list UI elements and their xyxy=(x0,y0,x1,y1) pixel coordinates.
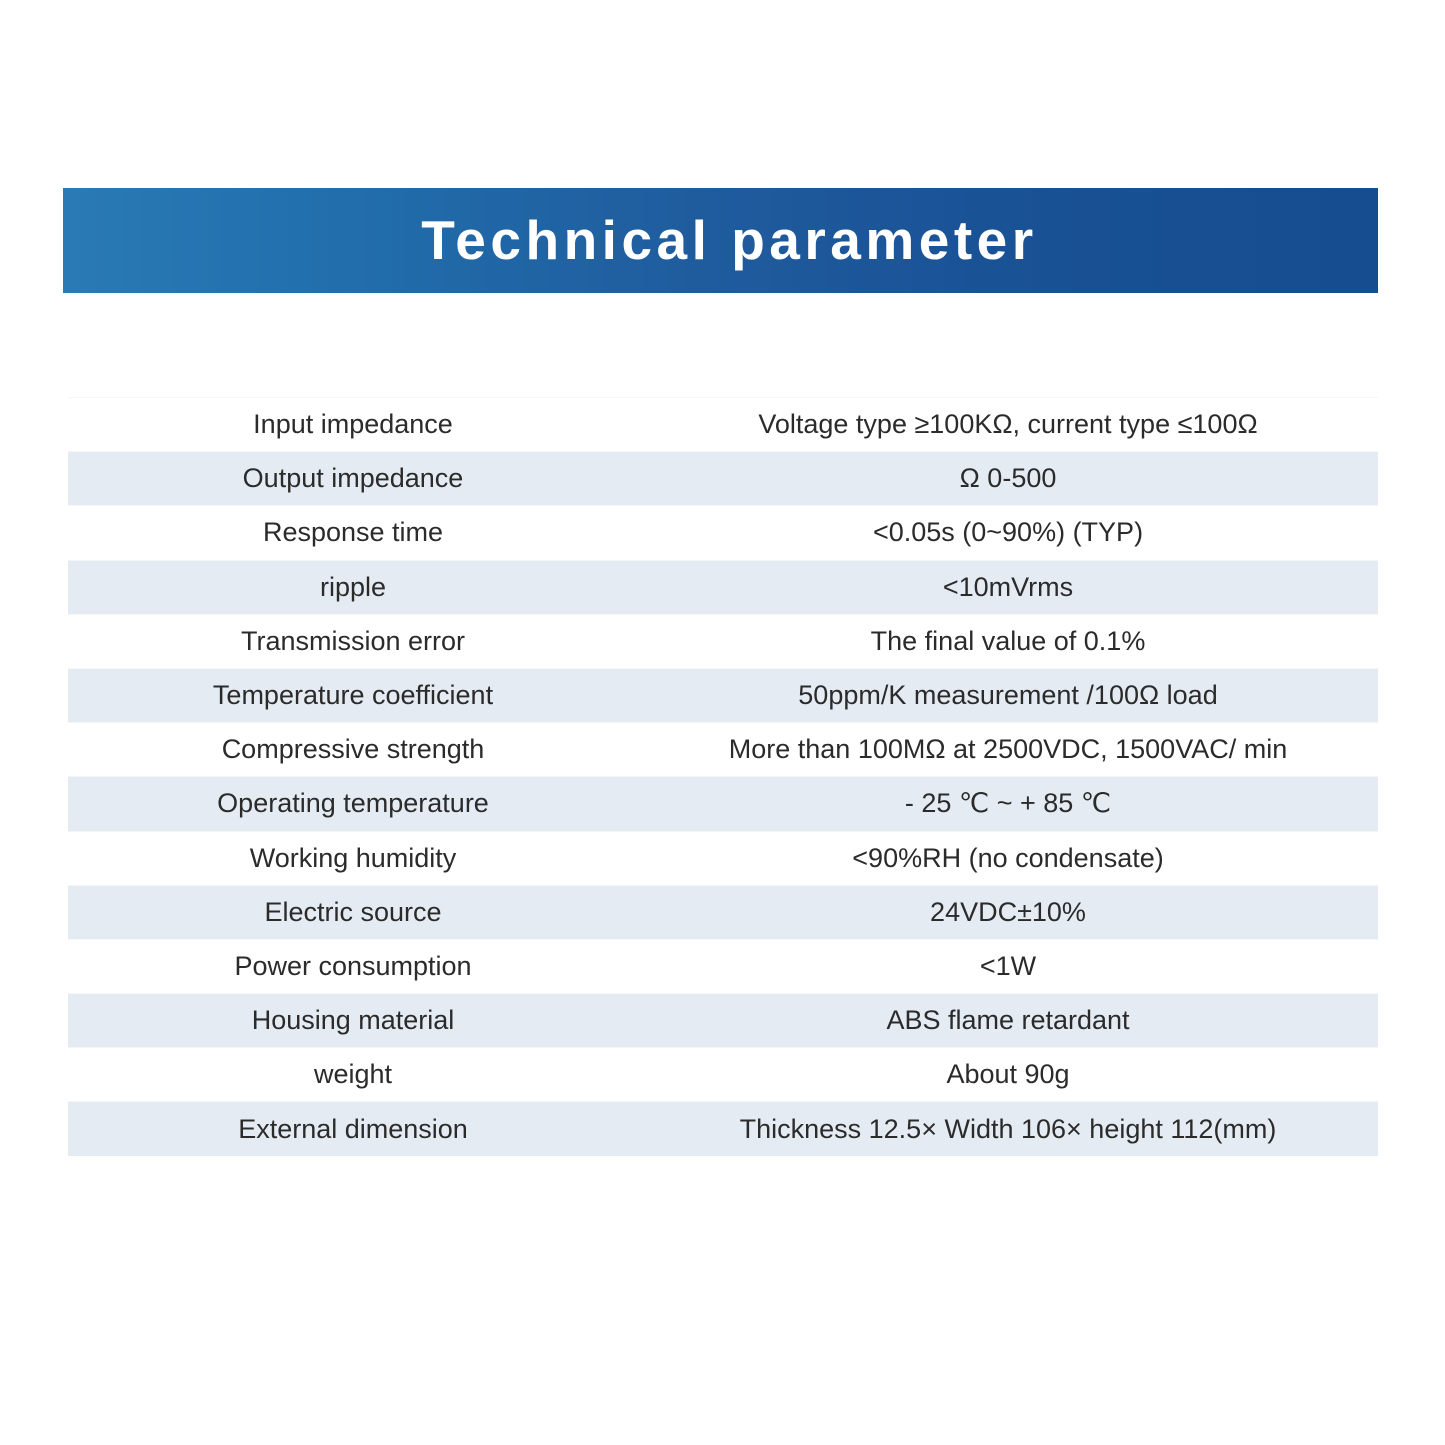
table-row: weight About 90g xyxy=(68,1048,1378,1102)
specification-table-body: Input impedance Voltage type ≥100KΩ, cur… xyxy=(68,398,1378,1157)
spec-value-cell: Ω 0-500 xyxy=(638,452,1378,506)
technical-parameter-page: Technical parameter Input impedance Volt… xyxy=(0,0,1445,1445)
table-row: Response time <0.05s (0~90%) (TYP) xyxy=(68,506,1378,560)
spec-value-cell: - 25 ℃ ~ + 85 ℃ xyxy=(638,777,1378,831)
table-row: Electric source 24VDC±10% xyxy=(68,885,1378,939)
spec-value-cell: 24VDC±10% xyxy=(638,885,1378,939)
spec-name-cell: Response time xyxy=(68,506,638,560)
table-row: Input impedance Voltage type ≥100KΩ, cur… xyxy=(68,398,1378,452)
spec-value-cell: <10mVrms xyxy=(638,560,1378,614)
spec-name-cell: Transmission error xyxy=(68,614,638,668)
spec-value-cell: The final value of 0.1% xyxy=(638,614,1378,668)
spec-value-cell: <1W xyxy=(638,939,1378,993)
spec-name-cell: ripple xyxy=(68,560,638,614)
spec-value-cell: <90%RH (no condensate) xyxy=(638,831,1378,885)
spec-value-cell: 50ppm/K measurement /100Ω load xyxy=(638,668,1378,722)
page-header-banner: Technical parameter xyxy=(63,188,1378,293)
spec-name-cell: Temperature coefficient xyxy=(68,668,638,722)
table-row: Output impedance Ω 0-500 xyxy=(68,452,1378,506)
table-row: ripple <10mVrms xyxy=(68,560,1378,614)
spec-name-cell: Operating temperature xyxy=(68,777,638,831)
page-title: Technical parameter xyxy=(421,213,1037,268)
table-row: Transmission error The final value of 0.… xyxy=(68,614,1378,668)
table-row: Compressive strength More than 100MΩ at … xyxy=(68,723,1378,777)
spec-name-cell: Compressive strength xyxy=(68,723,638,777)
spec-value-cell: More than 100MΩ at 2500VDC, 1500VAC/ min xyxy=(638,723,1378,777)
table-row: Housing material ABS flame retardant xyxy=(68,994,1378,1048)
spec-name-cell: Electric source xyxy=(68,885,638,939)
spec-name-cell: Housing material xyxy=(68,994,638,1048)
spec-name-cell: Input impedance xyxy=(68,398,638,452)
spec-value-cell: About 90g xyxy=(638,1048,1378,1102)
table-row: Working humidity <90%RH (no condensate) xyxy=(68,831,1378,885)
spec-value-cell: Thickness 12.5× Width 106× height 112(mm… xyxy=(638,1102,1378,1156)
table-row: Power consumption <1W xyxy=(68,939,1378,993)
spec-value-cell: <0.05s (0~90%) (TYP) xyxy=(638,506,1378,560)
table-row: Operating temperature - 25 ℃ ~ + 85 ℃ xyxy=(68,777,1378,831)
spec-name-cell: weight xyxy=(68,1048,638,1102)
spec-value-cell: Voltage type ≥100KΩ, current type ≤100Ω xyxy=(638,398,1378,452)
spec-name-cell: Working humidity xyxy=(68,831,638,885)
spec-name-cell: External dimension xyxy=(68,1102,638,1156)
table-row: Temperature coefficient 50ppm/K measurem… xyxy=(68,668,1378,722)
table-row: External dimension Thickness 12.5× Width… xyxy=(68,1102,1378,1156)
spec-name-cell: Output impedance xyxy=(68,452,638,506)
specification-table: Input impedance Voltage type ≥100KΩ, cur… xyxy=(68,397,1378,1156)
spec-value-cell: ABS flame retardant xyxy=(638,994,1378,1048)
spec-name-cell: Power consumption xyxy=(68,939,638,993)
